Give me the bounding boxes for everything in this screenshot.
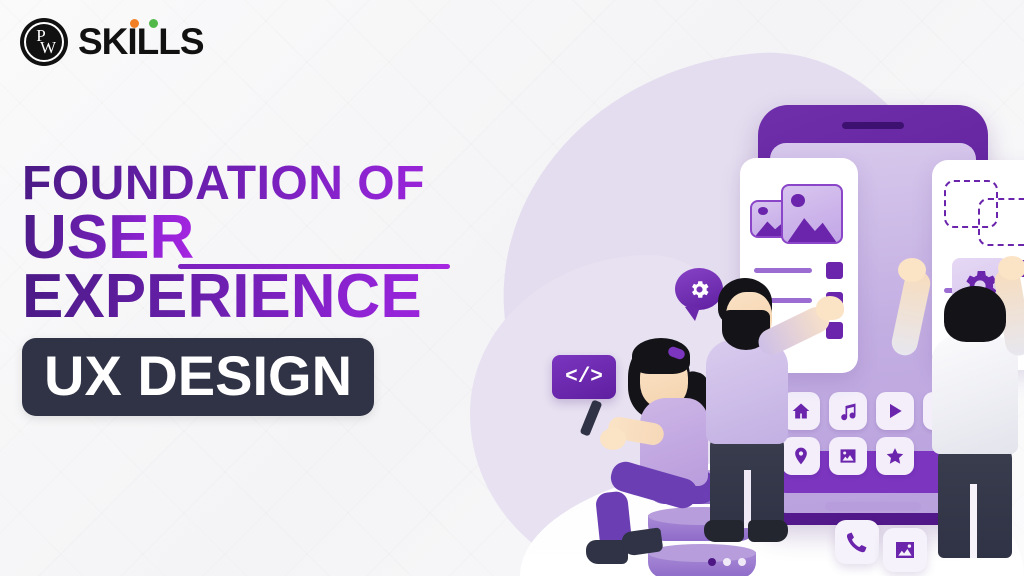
wordmark-dot-orange (130, 19, 139, 28)
wordmark-dot-green (149, 19, 158, 28)
headline-line-3: EXPERIENCE (22, 265, 492, 328)
man-pointing-hand (816, 296, 844, 320)
database-layer (648, 544, 756, 576)
placeholder-sun (758, 207, 768, 215)
headline-line-2: USER (22, 206, 194, 269)
phone-icon[interactable] (835, 520, 879, 564)
logo-initial-w: W (40, 41, 55, 55)
headline-block: FOUNDATION OF USER EXPERIENCE UX DESIGN (22, 160, 492, 416)
ux-design-badge-label: UX DESIGN (44, 344, 352, 407)
pw-initials: P W (33, 29, 55, 55)
location-icon[interactable] (782, 437, 820, 475)
headline-line-1: FOUNDATION OF (22, 160, 492, 208)
music-icon[interactable] (829, 392, 867, 430)
man-shoe (748, 520, 788, 542)
star-icon[interactable] (876, 437, 914, 475)
headline-underline-rule (178, 264, 450, 269)
brand-logo[interactable]: P W SKILLS (20, 18, 204, 66)
list-marker (826, 262, 843, 279)
placeholder-mountain (788, 213, 837, 242)
code-badge: </> (552, 355, 616, 399)
man2-right-hand (998, 256, 1024, 280)
phone-home-indicator (825, 502, 921, 511)
brand-wordmark: SKILLS (78, 21, 204, 63)
hero-illustration: </> (500, 0, 1024, 576)
man2-torso (932, 336, 1018, 454)
ux-design-badge: UX DESIGN (22, 338, 374, 416)
man2-left-hand (898, 258, 926, 282)
man-leg-gap (744, 470, 751, 528)
wordmark-text: SKILLS (78, 21, 204, 62)
play-icon[interactable] (876, 392, 914, 430)
man-shoe (704, 520, 744, 542)
man2-hair (944, 286, 1006, 342)
dashed-rectangle (978, 198, 1024, 246)
image-placeholder-large (781, 184, 843, 244)
woman-hand (600, 428, 626, 450)
man2-leg-gap (970, 484, 977, 558)
man-torso (706, 340, 788, 444)
image-icon[interactable] (829, 437, 867, 475)
phone-speaker (842, 122, 904, 129)
code-badge-label: </> (565, 366, 603, 389)
text-line (754, 268, 812, 273)
database-status-dots (708, 558, 746, 566)
woman-held-phone (580, 399, 603, 436)
image-icon[interactable] (883, 528, 927, 572)
pw-circle-mark: P W (20, 18, 68, 66)
gear-speech-bubble (675, 268, 723, 310)
gear-icon (688, 278, 711, 301)
placeholder-sun (791, 194, 805, 207)
